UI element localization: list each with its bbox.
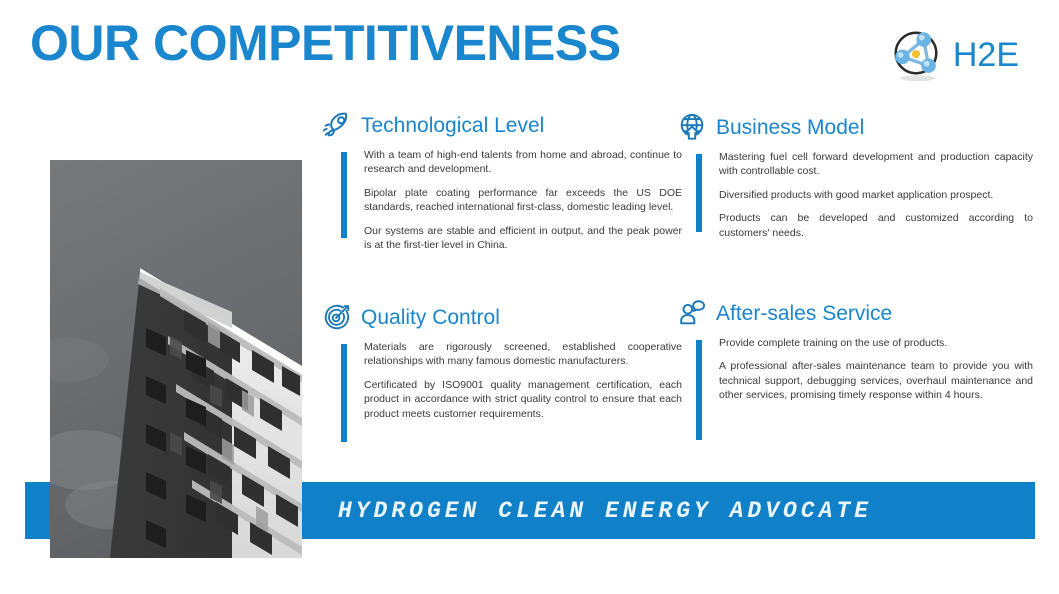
building-photo bbox=[50, 160, 302, 558]
feature-header: Technological Level bbox=[322, 108, 682, 142]
accent-bar bbox=[696, 154, 702, 232]
rocket-icon bbox=[322, 110, 352, 140]
feature-title: After-sales Service bbox=[716, 303, 892, 324]
feature-paragraph: Diversified products with good market ap… bbox=[719, 188, 1033, 202]
feature-header: Quality Control bbox=[322, 300, 682, 334]
feature-paragraph: Bipolar plate coating performance far ex… bbox=[364, 186, 682, 215]
accent-bar bbox=[341, 152, 347, 238]
target-arrow-icon bbox=[322, 302, 352, 332]
person-speech-icon bbox=[677, 298, 707, 328]
brand-logo: H2E bbox=[887, 26, 1019, 84]
accent-bar bbox=[341, 344, 347, 442]
feature-body: Provide complete training on the use of … bbox=[677, 336, 1033, 403]
feature-paragraph: Materials are rigorously screened, estab… bbox=[364, 340, 682, 369]
globe-arrow-icon bbox=[677, 112, 707, 142]
feature-title: Technological Level bbox=[361, 115, 544, 136]
accent-bar bbox=[696, 340, 702, 440]
feature-paragraph: Products can be developed and customized… bbox=[719, 211, 1033, 240]
molecule-logo-icon bbox=[887, 26, 945, 84]
feature-paragraph: Our systems are stable and efficient in … bbox=[364, 224, 682, 253]
feature-title: Quality Control bbox=[361, 307, 500, 328]
slide-canvas: OUR COMPETITIVENESS H2E HYDROGEN CLEAN E… bbox=[0, 0, 1059, 594]
feature-after-sales-service: After-sales Service Provide complete tra… bbox=[677, 296, 1033, 403]
feature-business-model: Business Model Mastering fuel cell forwa… bbox=[677, 110, 1033, 240]
feature-body: With a team of high-end talents from hom… bbox=[322, 148, 682, 253]
building-photo-graphic bbox=[50, 160, 302, 558]
feature-body: Materials are rigorously screened, estab… bbox=[322, 340, 682, 421]
feature-paragraph: A professional after-sales maintenance t… bbox=[719, 359, 1033, 402]
feature-header: After-sales Service bbox=[677, 296, 1033, 330]
feature-paragraph: Mastering fuel cell forward development … bbox=[719, 150, 1033, 179]
feature-header: Business Model bbox=[677, 110, 1033, 144]
feature-body: Mastering fuel cell forward development … bbox=[677, 150, 1033, 240]
page-title: OUR COMPETITIVENESS bbox=[30, 18, 621, 68]
feature-quality-control: Quality Control Materials are rigorously… bbox=[322, 300, 682, 421]
brand-name: H2E bbox=[953, 38, 1019, 72]
feature-technological-level: Technological Level With a team of high-… bbox=[322, 108, 682, 253]
feature-paragraph: With a team of high-end talents from hom… bbox=[364, 148, 682, 177]
feature-paragraph: Certificated by ISO9001 quality manageme… bbox=[364, 378, 682, 421]
feature-title: Business Model bbox=[716, 117, 864, 138]
feature-paragraph: Provide complete training on the use of … bbox=[719, 336, 1033, 350]
